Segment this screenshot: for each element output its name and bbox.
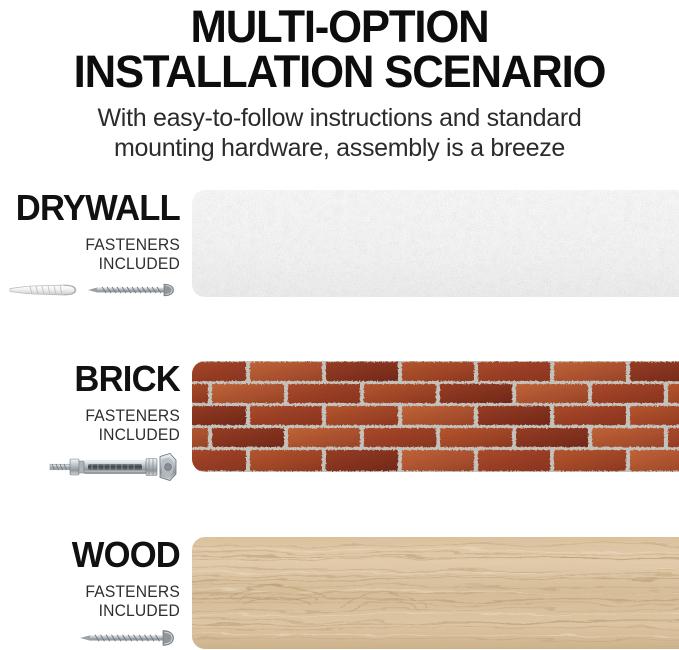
- wood-label-block: WOOD FASTENERS INCLUDED: [0, 537, 186, 649]
- brick-label-block: BRICK FASTENERS INCLUDED: [0, 361, 186, 472]
- subtitle-line-2: mounting hardware, assembly is a breeze: [0, 133, 679, 163]
- surface-name-drywall: DRYWALL: [7, 190, 180, 226]
- surface-row-brick: BRICK FASTENERS INCLUDED: [0, 361, 679, 472]
- drywall-plaster-texture: [192, 190, 679, 297]
- infographic-root: MULTI-OPTION INSTALLATION SCENARIO With …: [0, 0, 679, 649]
- screw-icon: [84, 279, 180, 301]
- title-line-2: INSTALLATION SCENARIO: [10, 49, 669, 94]
- brick-texture-panel: [192, 361, 679, 472]
- wall-anchor-icon: [2, 279, 80, 301]
- red-brick-texture: [192, 361, 679, 472]
- title-line-1: MULTI-OPTION: [10, 0, 669, 49]
- drywall-label-block: DRYWALL FASTENERS INCLUDED: [0, 190, 186, 297]
- screw-icon: [76, 626, 180, 650]
- page-title: MULTI-OPTION INSTALLATION SCENARIO: [10, 0, 669, 94]
- surface-name-wood: WOOD: [7, 537, 180, 573]
- sleeve-anchor-icon: [48, 450, 180, 484]
- drywall-texture-panel: [192, 190, 679, 297]
- header: MULTI-OPTION INSTALLATION SCENARIO With …: [0, 0, 679, 163]
- light-oak-wood-texture: [192, 537, 679, 649]
- surface-name-brick: BRICK: [7, 361, 180, 397]
- subtitle-line-1: With easy-to-follow instructions and sta…: [0, 103, 679, 133]
- drywall-hardware-group: [0, 273, 180, 301]
- surface-row-drywall: DRYWALL FASTENERS INCLUDED: [0, 190, 679, 297]
- fasteners-included-brick: FASTENERS INCLUDED: [14, 397, 180, 444]
- brick-hardware-group: [0, 444, 180, 484]
- surface-row-wood: WOOD FASTENERS INCLUDED: [0, 537, 679, 649]
- wood-hardware-group: [0, 620, 180, 650]
- fasteners-included-drywall: FASTENERS INCLUDED: [14, 226, 180, 273]
- fasteners-included-wood: FASTENERS INCLUDED: [14, 573, 180, 620]
- wood-texture-panel: [192, 537, 679, 649]
- page-subtitle: With easy-to-follow instructions and sta…: [0, 94, 679, 163]
